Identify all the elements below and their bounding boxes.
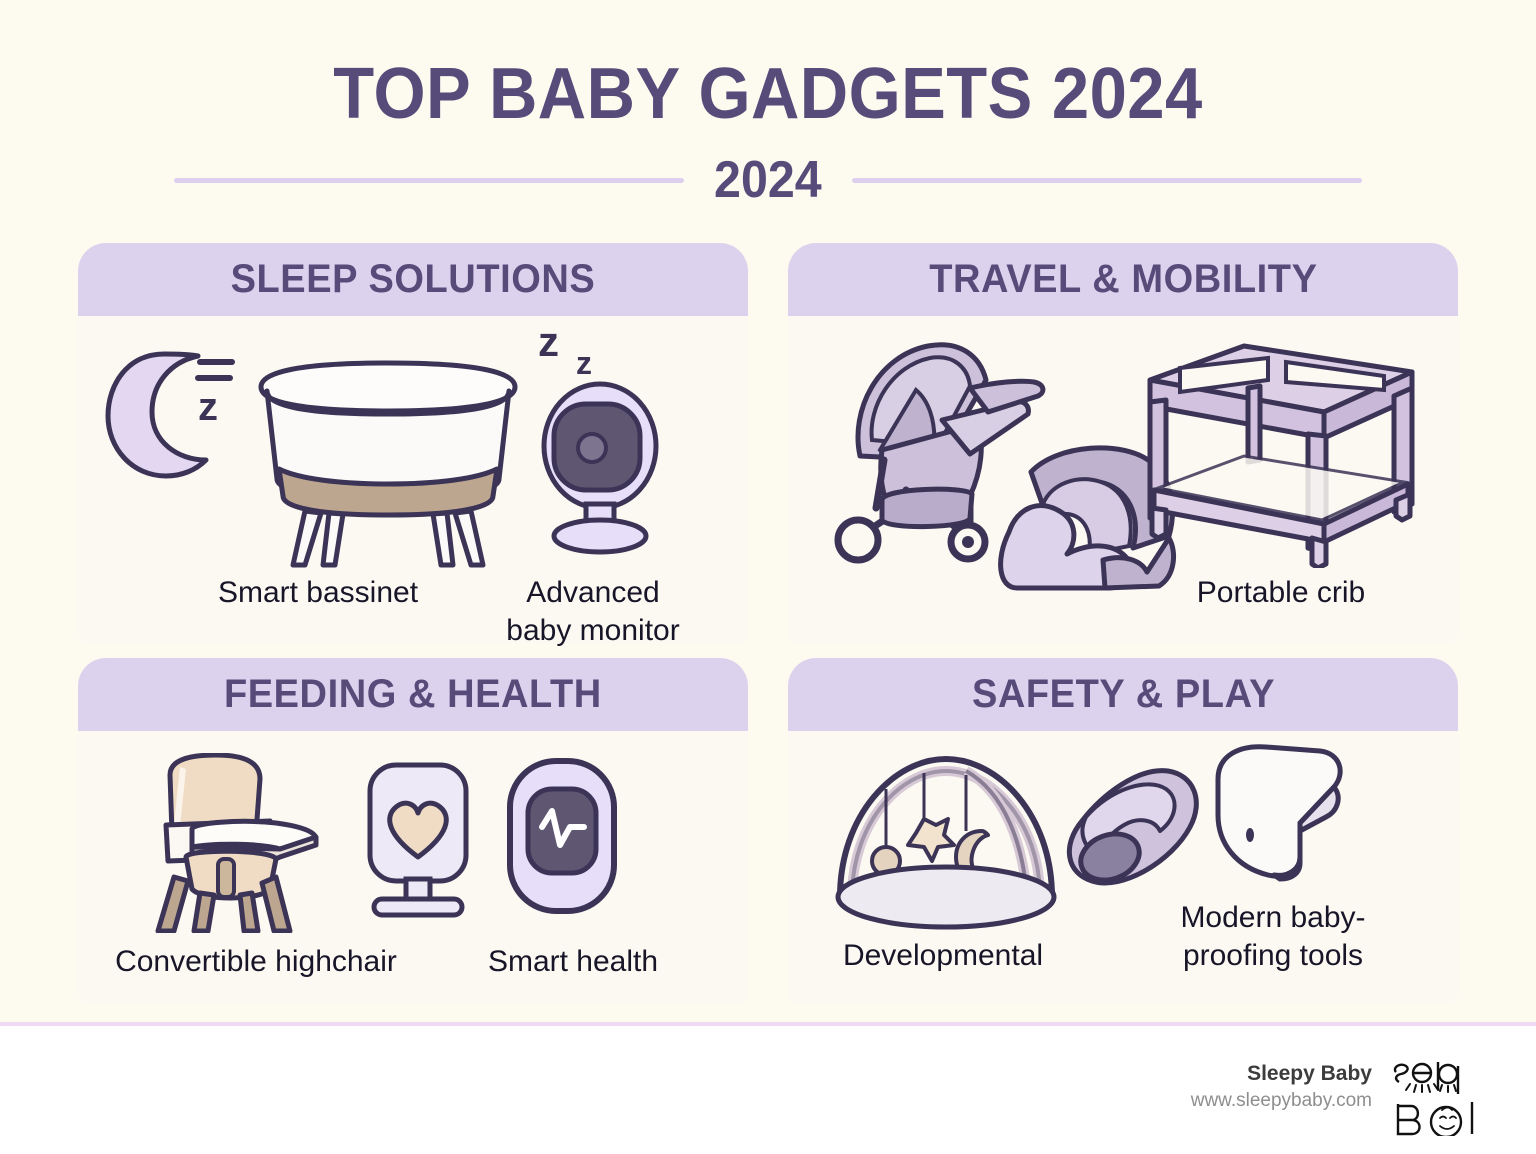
caption-smart-health: Smart health (438, 943, 708, 981)
panel-header-label: TRAVEL & MOBILITY (929, 257, 1317, 302)
sleepy-baby-logo-icon (1390, 1058, 1508, 1136)
panel-safety-play: SAFETY & PLAY (788, 658, 1458, 1003)
footer: Sleepy Baby www.sleepybaby.com (0, 1026, 1536, 1154)
bassinet-icon (243, 351, 533, 571)
caption-portable-crib: Portable crib (1136, 574, 1426, 612)
caption-convertible-highchair: Convertible highchair (86, 943, 426, 981)
panel-header-label: SLEEP SOLUTIONS (231, 257, 596, 302)
caption-line-2: proofing tools (1183, 939, 1363, 972)
play-gym-icon (816, 745, 1076, 935)
panel-feeding-health: FEEDING & HEALTH (78, 658, 748, 1003)
page-title: TOP BABY GADGETS 2024 (54, 58, 1482, 130)
panels-grid: SLEEP SOLUTIONS z (78, 243, 1458, 1003)
panel-travel-mobility: TRAVEL & MOBILITY (788, 243, 1458, 643)
brand-name: Sleepy Baby (1191, 1060, 1372, 1088)
brand-url[interactable]: www.sleepybaby.com (1191, 1088, 1372, 1114)
infographic-poster: TOP BABY GADGETS 2024 2024 SLEEP SOLUTIO… (0, 0, 1536, 1154)
svg-text:z: z (538, 318, 559, 365)
caption-advanced-baby-monitor: Advanced baby monitor (448, 574, 738, 651)
panel-body-feeding: Convertible highchair Smart health (78, 731, 748, 1003)
panel-body-sleep: z z z (78, 316, 748, 643)
brand-text-block: Sleepy Baby www.sleepybaby.com (1191, 1060, 1372, 1114)
baby-monitor-icon (530, 378, 670, 558)
panel-header-travel: TRAVEL & MOBILITY (788, 243, 1458, 316)
health-monitor-icon (498, 755, 628, 920)
caption-line-2: baby monitor (506, 614, 679, 647)
caption-smart-bassinet: Smart bassinet (168, 574, 468, 612)
caption-line-1: Advanced (526, 576, 659, 609)
caption-line-1: Modern baby- (1180, 901, 1365, 934)
panel-header-feeding: FEEDING & HEALTH (78, 658, 748, 731)
corner-guard-icon (1188, 739, 1358, 889)
subtitle-rule-left (174, 178, 684, 183)
panel-body-travel: Portable crib (788, 316, 1458, 643)
subtitle-block: 2024 (0, 150, 1536, 210)
portable-crib-icon (1136, 338, 1426, 568)
subtitle-year: 2024 (714, 150, 822, 210)
panel-header-sleep: SLEEP SOLUTIONS (78, 243, 748, 316)
caption-developmental: Developmental (798, 937, 1088, 975)
svg-text:z: z (576, 345, 592, 381)
caption-baby-proofing-tools: Modern baby- proofing tools (1118, 899, 1428, 976)
panel-body-safety: Developmental Modern baby- proofing tool… (788, 731, 1458, 1003)
subtitle-rule-right (852, 178, 1362, 183)
svg-text:z: z (198, 385, 218, 429)
panel-header-safety: SAFETY & PLAY (788, 658, 1458, 731)
panel-header-label: FEEDING & HEALTH (224, 672, 602, 717)
title-block: TOP BABY GADGETS 2024 (0, 58, 1536, 130)
panel-header-label: SAFETY & PLAY (971, 672, 1274, 717)
footer-brand-area: Sleepy Baby www.sleepybaby.com (1191, 1060, 1508, 1136)
highchair-icon (130, 753, 360, 933)
panel-sleep-solutions: SLEEP SOLUTIONS z (78, 243, 748, 643)
heart-display-icon (358, 759, 478, 929)
